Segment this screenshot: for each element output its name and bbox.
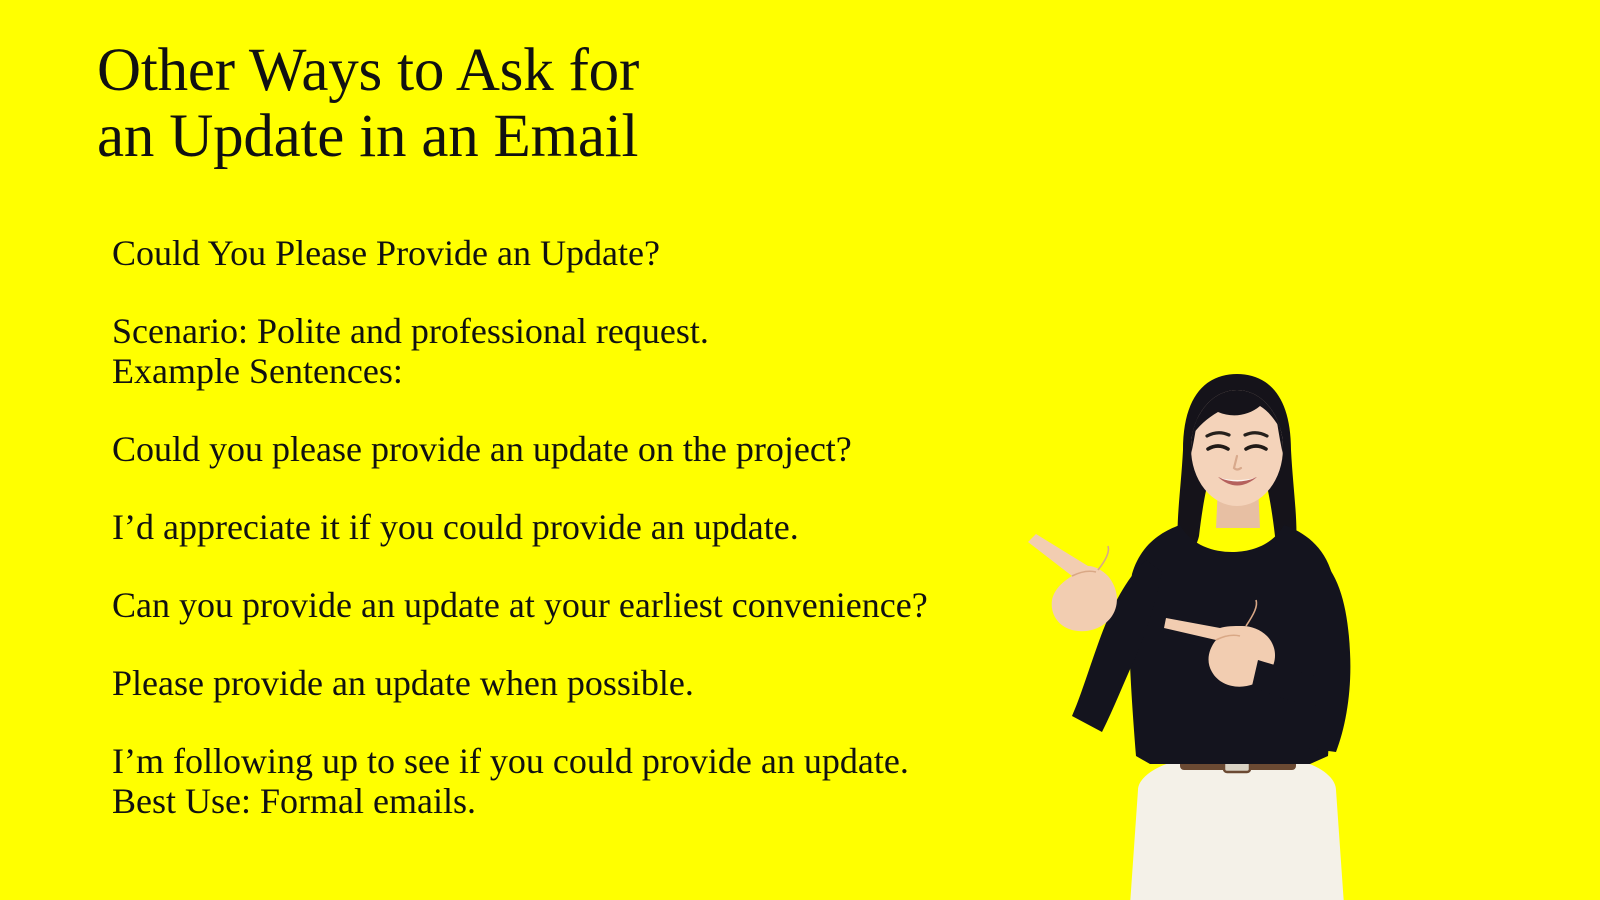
spacer: [112, 703, 1012, 741]
example-sentence-4: Please provide an update when possible.: [112, 663, 1012, 703]
spacer: [112, 547, 1012, 585]
person-illustration: [1010, 360, 1440, 900]
scenario-text: Scenario: Polite and professional reques…: [112, 311, 1012, 391]
spacer: [112, 625, 1012, 663]
spacer: [112, 273, 1012, 311]
page-title: Other Ways to Ask for an Update in an Em…: [97, 38, 997, 170]
person-photo: [1010, 360, 1440, 900]
spacer: [112, 469, 1012, 507]
slide-canvas: Other Ways to Ask for an Update in an Em…: [0, 0, 1600, 900]
example-sentence-1: Could you please provide an update on th…: [112, 429, 1012, 469]
slide-body: Could You Please Provide an Update? Scen…: [112, 233, 1012, 821]
example-sentence-5: I’m following up to see if you could pro…: [112, 741, 1012, 781]
skirt: [1130, 756, 1344, 900]
example-sentence-3: Can you provide an update at your earlie…: [112, 585, 1012, 625]
spacer: [112, 391, 1012, 429]
body-heading: Could You Please Provide an Update?: [112, 233, 1012, 273]
hand-pointing-upper: [1028, 534, 1117, 631]
best-use-text: Best Use: Formal emails.: [112, 781, 1012, 821]
example-sentence-2: I’d appreciate it if you could provide a…: [112, 507, 1012, 547]
